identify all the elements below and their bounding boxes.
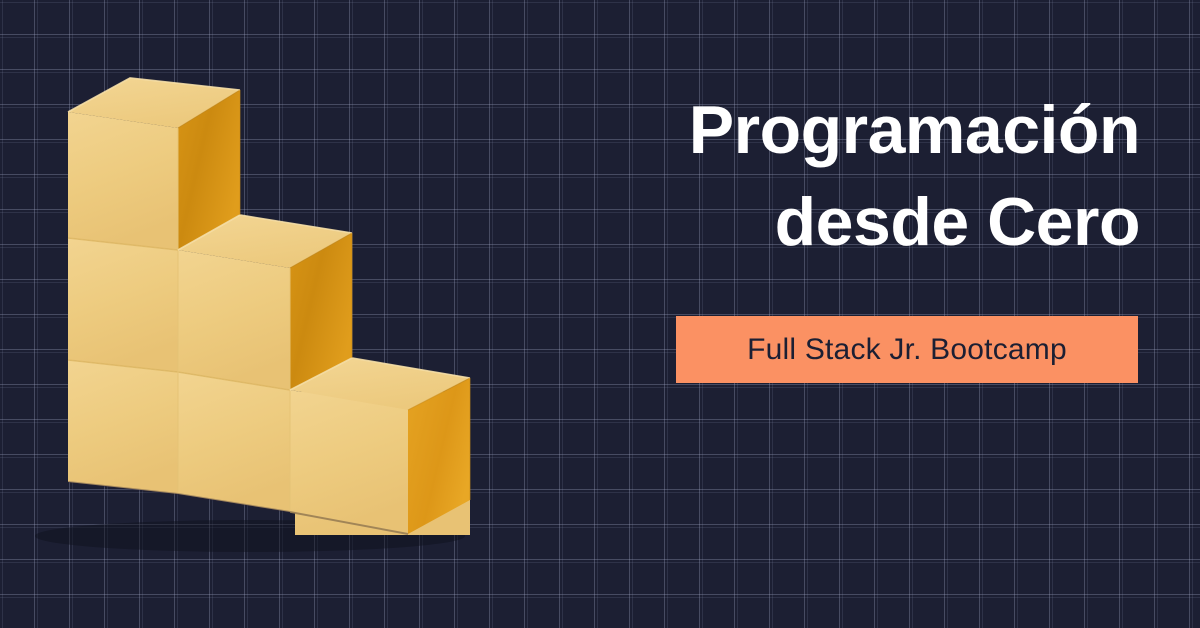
- page-title: Programación desde Cero: [560, 84, 1140, 269]
- status-badge: Full Stack Jr. Bootcamp: [676, 316, 1138, 383]
- isometric-cube-staircase-illustration: [0, 0, 520, 628]
- subtitle-badge-wrapper: Full Stack Jr. Bootcamp: [676, 316, 1138, 383]
- headline-block: Programación desde Cero: [560, 84, 1140, 269]
- poster-canvas: Programación desde Cero Full Stack Jr. B…: [0, 0, 1200, 628]
